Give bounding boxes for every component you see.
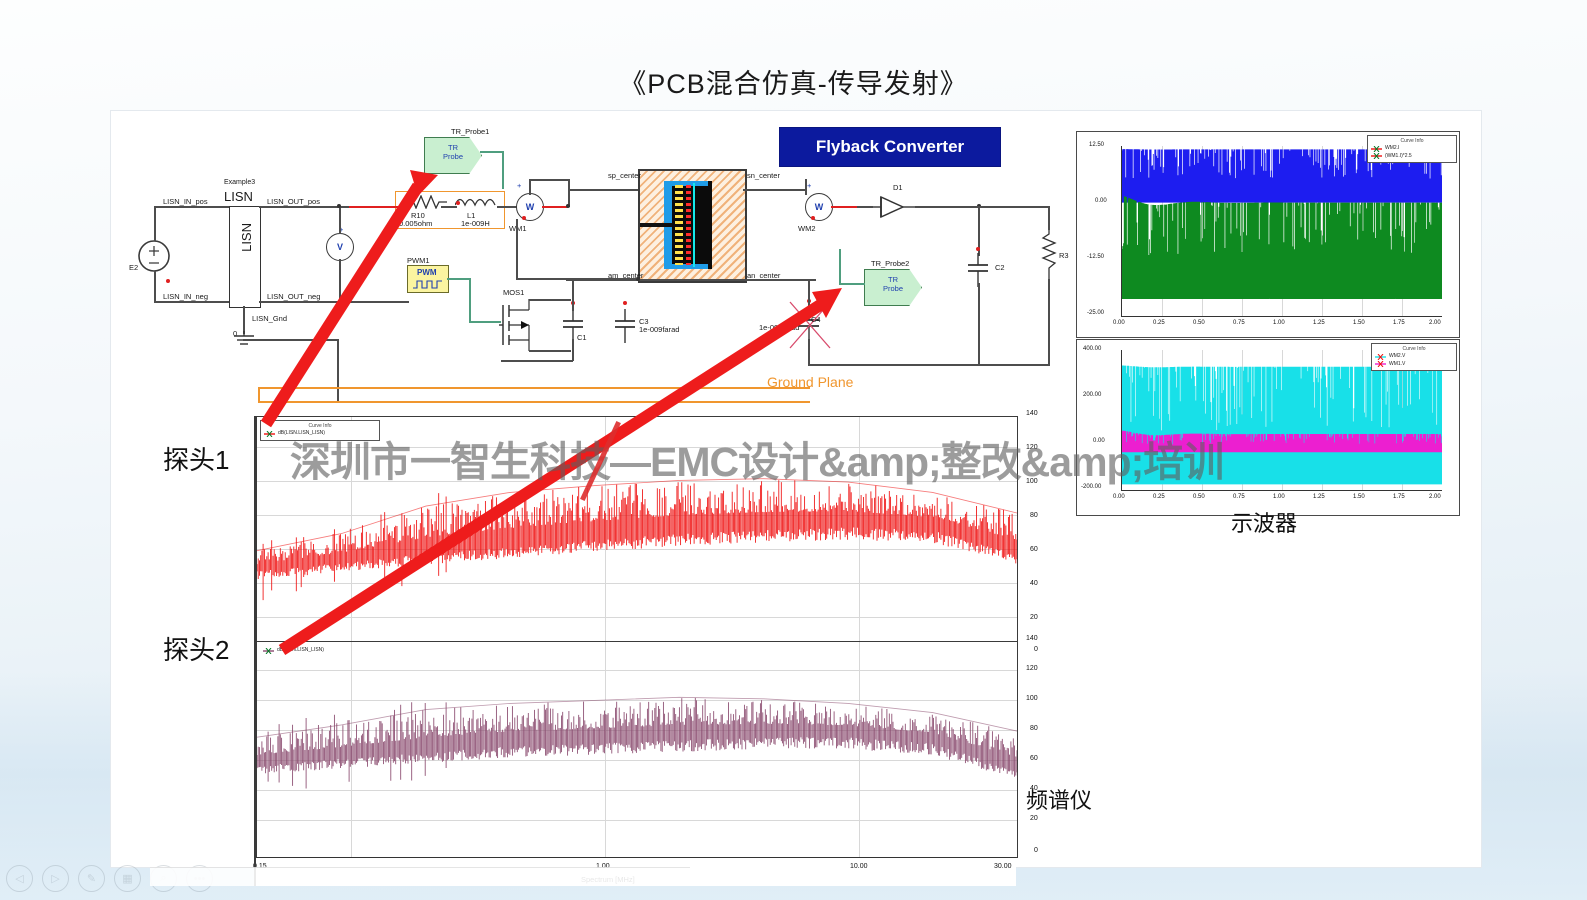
tr-probe-2[interactable]: TR Probe (864, 269, 922, 306)
mosfet-symbol (499, 297, 551, 353)
probe2-line2: Probe (865, 284, 921, 293)
y-tick: 0 (1034, 847, 1038, 854)
probe1-caption: 探头1 (163, 440, 229, 477)
resistor-r3 (1041, 229, 1057, 281)
r10-value: 0.005ohm (399, 219, 432, 228)
scope1-legend: Curve Info WM2.I (WM1.I)*2.5 (1367, 135, 1457, 163)
wire (831, 206, 857, 208)
wire (805, 179, 807, 195)
capacitor-c3 (613, 309, 637, 343)
scope2-legend: Curve Info WM2.V WM1.V (1371, 343, 1457, 371)
x-tick: 0.25 (1153, 494, 1165, 500)
wattmeter-1: W (516, 193, 544, 221)
legend-swatch (1371, 153, 1382, 159)
x-tick: 1.25 (1313, 320, 1325, 326)
wire (1048, 279, 1050, 365)
prev-icon[interactable]: ◁ (6, 865, 33, 892)
y-tick: 20 (1030, 614, 1038, 621)
legend-series-name: WM2.I (1385, 145, 1399, 152)
x-tick: 0.75 (1233, 494, 1245, 500)
y-tick: 0.00 (1095, 198, 1107, 204)
c4-value: 1e-009farad (759, 323, 799, 332)
x-tick: 2.00 (1429, 494, 1441, 500)
node-dot (522, 216, 526, 220)
spectrum2-plot-area: dB(LISN.LISN_LISN) (256, 641, 1018, 858)
wattmeter-2: W (805, 193, 833, 221)
node-dot (401, 201, 405, 205)
legend-swatch (264, 431, 275, 437)
x-tick: 1.50 (1353, 494, 1365, 500)
wire (480, 151, 504, 153)
wire (154, 271, 156, 303)
d1-ref: D1 (893, 183, 903, 192)
x-tick: 0.25 (1153, 320, 1165, 326)
wire (808, 339, 810, 365)
legend-series-name: (WM1.I)*2.5 (1385, 153, 1412, 160)
wire (243, 339, 338, 341)
lisn-block-label: LISN (239, 223, 254, 252)
wire (839, 283, 865, 285)
lisn-gnd-label: LISN_Gnd (252, 314, 287, 323)
wire (542, 206, 568, 208)
x-tick: 0.50 (1193, 320, 1205, 326)
scope1-traces (1122, 146, 1442, 316)
pwm1-ref: PWM1 (407, 256, 430, 265)
wire (501, 360, 573, 362)
wire (529, 350, 571, 352)
port-sn-center: sn_center (747, 171, 780, 180)
wire (743, 189, 805, 191)
spectrum-chart-probe2: dB(LISN.LISN_LISN) 140 120 100 80 60 40 … (256, 641, 1016, 886)
watermark-text: 深圳市一智生科技—EMC设计&amp;整改&amp;培训 (290, 428, 1223, 488)
grid-icon[interactable]: ▦ (114, 865, 141, 892)
node-dot (636, 277, 640, 281)
port-sp-center: sp_center (608, 171, 641, 180)
lisn-in-pos-label: LISN_IN_pos (163, 197, 208, 206)
y-tick: 140 (1026, 635, 1038, 642)
wire (529, 179, 531, 195)
x-tick: 10.00 (850, 863, 868, 870)
mos1-ref: MOS1 (503, 288, 524, 297)
wire (566, 279, 816, 281)
wire (1048, 206, 1050, 230)
y-tick: 60 (1030, 546, 1038, 553)
legend-series-name: WM1.V (1389, 361, 1405, 368)
next-icon[interactable]: ▷ (42, 865, 69, 892)
spectrum2-trace (257, 642, 1017, 857)
presenter-panel (150, 867, 690, 886)
ground-plane-line (258, 401, 810, 403)
scope1-plot-area (1121, 146, 1442, 317)
probe1-line1: TR (425, 143, 481, 152)
y-tick: 0 (1034, 646, 1038, 653)
legend-swatch (263, 648, 274, 654)
node-dot (337, 204, 341, 208)
lisn-block (229, 206, 261, 308)
diode-symbol (873, 193, 915, 221)
wm2-ref: WM2 (798, 224, 816, 233)
wm1-glyph: W (526, 202, 535, 212)
c1-ref: C1 (577, 333, 587, 342)
node-dot (566, 204, 570, 208)
wire (568, 189, 638, 191)
y-tick: 20 (1030, 815, 1038, 822)
y-tick: -25.00 (1087, 310, 1104, 316)
wire (154, 206, 239, 208)
voltage-meter: V (326, 233, 354, 261)
wire (154, 301, 239, 303)
wire (808, 364, 1050, 366)
y-tick: 60 (1030, 755, 1038, 762)
capacitor-c2 (967, 253, 991, 287)
pwm-label: PWM (417, 268, 437, 277)
wire (243, 306, 245, 334)
legend-series-name: dB(LISN.LISN_LISN) (277, 647, 324, 654)
wire (469, 278, 471, 322)
x-tick: 1.75 (1393, 494, 1405, 500)
x-tick: 1.00 (1273, 320, 1285, 326)
pen-icon[interactable]: ✎ (78, 865, 105, 892)
wire (441, 206, 457, 208)
lisn-ref: Example3 (224, 179, 255, 186)
tr-probe-1[interactable]: TR Probe (424, 137, 482, 174)
y-tick: 80 (1030, 512, 1038, 519)
x-tick: 0.00 (1113, 494, 1125, 500)
wire (839, 249, 841, 285)
probe2-caption: 探头2 (163, 630, 229, 667)
ground-plane-line (258, 387, 260, 401)
wire (339, 206, 341, 234)
oscilloscope-caption: 示波器 (1231, 506, 1297, 538)
node-dot (456, 201, 460, 205)
wire (572, 279, 574, 311)
wire (568, 179, 570, 207)
y-tick: 400.00 (1083, 346, 1101, 352)
wire (516, 219, 518, 279)
wire (469, 321, 501, 323)
pwm-source: PWM (407, 265, 449, 293)
node-dot (623, 301, 627, 305)
legend-swatch (1375, 354, 1386, 360)
wire (154, 206, 156, 241)
l1-value: 1e-009H (461, 219, 490, 228)
y-tick: 80 (1030, 725, 1038, 732)
wm2-glyph: W (815, 202, 824, 212)
y-tick: -12.50 (1087, 254, 1104, 260)
x-tick: 0.75 (1233, 320, 1245, 326)
r3-ref: R3 (1059, 251, 1069, 260)
x-tick: 1.00 (1273, 494, 1285, 500)
probe1-line2: Probe (425, 152, 481, 161)
flyback-converter-banner: Flyback Converter (779, 127, 1001, 167)
spectrum2-legend: dB(LISN.LISN_LISN) (260, 645, 378, 656)
wire (259, 206, 349, 208)
spectrum-caption: 频谱仪 (1026, 783, 1092, 815)
x-tick: 1.75 (1393, 320, 1405, 326)
wire (447, 278, 471, 280)
wm1-ref: WM1 (509, 224, 527, 233)
inductor-symbol (455, 194, 497, 208)
y-tick: 140 (1026, 410, 1038, 417)
y-tick: 100 (1026, 695, 1038, 702)
vmeter-glyph: V (337, 242, 343, 252)
wire (808, 279, 810, 311)
y-tick: 120 (1026, 665, 1038, 672)
page-title: 《PCB混合仿真-传导发射》 (0, 62, 1587, 101)
legend-title: Curve Info (1375, 346, 1453, 353)
probe2-ref: TR_Probe2 (871, 259, 909, 268)
wire (502, 151, 504, 189)
lisn-out-pos-label: LISN_OUT_pos (267, 197, 320, 206)
lisn-out-neg-label: LISN_OUT_neg (267, 292, 320, 301)
legend-title: Curve Info (1371, 138, 1453, 145)
voltage-source-symbol (137, 239, 171, 273)
wire (857, 206, 873, 208)
wire (337, 339, 339, 401)
oscilloscope-chart-current: 12.50 0.00 -12.50 -25.00 0.00 0.25 0.50 … (1076, 131, 1460, 338)
node-dot (166, 279, 170, 283)
slide-canvas: E2 Example3 LISN LISN LISN_IN_pos LISN_I… (110, 110, 1482, 868)
wire (349, 206, 405, 208)
wire (339, 259, 341, 301)
x-tick: 0.00 (1113, 320, 1125, 326)
wire (915, 206, 1049, 208)
y-tick: 40 (1030, 580, 1038, 587)
legend-swatch (1371, 146, 1382, 152)
transformer-model (638, 169, 747, 283)
wire (259, 301, 409, 303)
wire (529, 179, 569, 181)
y-tick: 12.50 (1089, 142, 1104, 148)
c2-ref: C2 (995, 263, 1005, 272)
wire (572, 339, 574, 361)
legend-series-name: WM2.V (1389, 353, 1405, 360)
c4-ref: C4 (811, 315, 821, 324)
probe2-line1: TR (865, 275, 921, 284)
ground-plane-label: Ground Plane (767, 374, 853, 390)
x-tick: 30.00 (994, 863, 1012, 870)
probe1-ref: TR_Probe1 (451, 127, 489, 136)
node-dot (811, 216, 815, 220)
wire (529, 299, 571, 301)
x-tick: 1.25 (1313, 494, 1325, 500)
x-tick: 2.00 (1429, 320, 1441, 326)
wire (978, 283, 980, 365)
x-tick: 0.50 (1193, 494, 1205, 500)
y-tick: 200.00 (1083, 392, 1101, 398)
ground-plane-line (258, 387, 810, 389)
legend-swatch (1375, 361, 1386, 367)
lisn-in-neg-label: LISN_IN_neg (163, 292, 208, 301)
node-dot (976, 247, 980, 251)
c3-value: 1e-009farad (639, 325, 679, 334)
x-tick: 1.50 (1353, 320, 1365, 326)
spectrum-axis-spine (254, 416, 256, 886)
lisn-name: LISN (224, 189, 253, 204)
